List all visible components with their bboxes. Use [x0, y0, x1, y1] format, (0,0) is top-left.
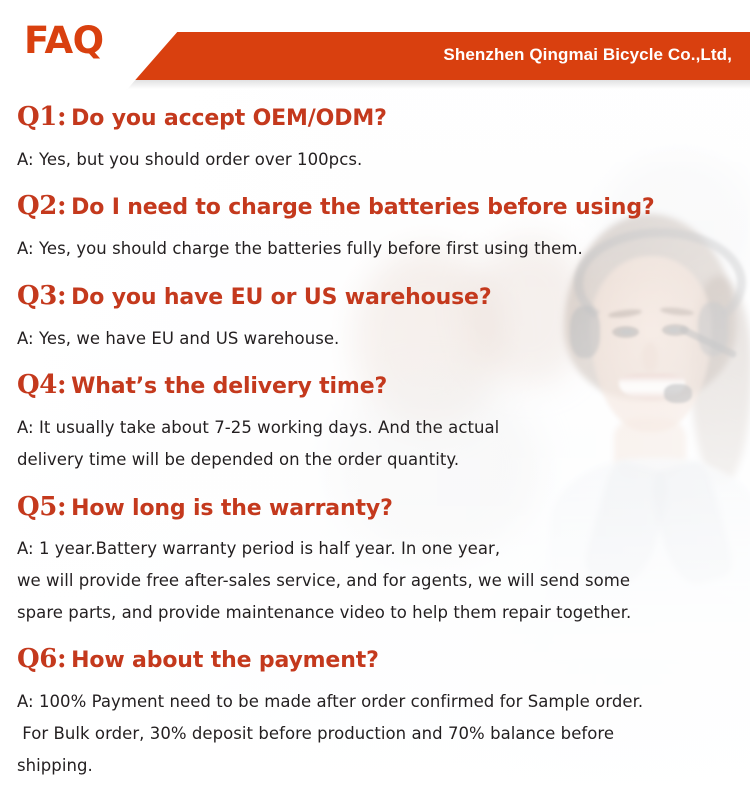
- faq-answer-line: A: Yes, but you should order over 100pcs…: [17, 144, 750, 176]
- faq-question-6: Q6:How about the payment?: [17, 634, 750, 680]
- faq-question-text: Do I need to charge the batteries before…: [71, 195, 654, 220]
- faq-answer-6: A: 100% Payment need to be made after or…: [17, 680, 750, 787]
- faq-question-4: Q4:What’s the delivery time?: [17, 360, 750, 406]
- faq-question-text: What’s the delivery time?: [71, 374, 387, 399]
- faq-question-text: How about the payment?: [71, 648, 379, 673]
- faq-question-1: Q1:Do you accept OEM/ODM?: [17, 92, 750, 138]
- faq-item: Q2:Do I need to charge the batteries bef…: [17, 181, 750, 270]
- faq-answer-5: A: 1 year.Battery warranty period is hal…: [17, 527, 750, 634]
- faq-question-label: Q4:: [17, 370, 66, 400]
- page-header: FAQ Shenzhen Qingmai Bicycle Co.,Ltd,: [0, 0, 750, 92]
- faq-answer-1: A: Yes, but you should order over 100pcs…: [17, 138, 750, 182]
- faq-item: Q4:What’s the delivery time?A: It usuall…: [17, 360, 750, 481]
- faq-question-label: Q1:: [17, 102, 66, 132]
- faq-question-label: Q5:: [17, 492, 66, 522]
- faq-page: FAQ Shenzhen Qingmai Bicycle Co.,Ltd, Q1…: [0, 0, 750, 800]
- faq-answer-line: spare parts, and provide maintenance vid…: [17, 597, 750, 629]
- faq-question-label: Q2:: [17, 191, 66, 221]
- faq-answer-2: A: Yes, you should charge the batteries …: [17, 227, 750, 271]
- faq-question-text: Do you accept OEM/ODM?: [71, 106, 387, 131]
- faq-question-label: Q3:: [17, 281, 66, 311]
- company-name: Shenzhen Qingmai Bicycle Co.,Ltd,: [443, 45, 732, 65]
- faq-answer-line: A: It usually take about 7-25 working da…: [17, 412, 750, 444]
- faq-answer-line: A: Yes, we have EU and US warehouse.: [17, 323, 750, 355]
- faq-answer-line: A: 100% Payment need to be made after or…: [17, 686, 750, 718]
- faq-answer-line: A: 1 year.Battery warranty period is hal…: [17, 533, 750, 565]
- faq-item: Q1:Do you accept OEM/ODM?A: Yes, but you…: [17, 92, 750, 181]
- faq-question-5: Q5:How long is the warranty?: [17, 482, 750, 528]
- faq-answer-3: A: Yes, we have EU and US warehouse.: [17, 317, 750, 361]
- faq-answer-line: delivery time will be depended on the or…: [17, 444, 750, 476]
- page-title: FAQ: [24, 22, 104, 59]
- faq-question-2: Q2:Do I need to charge the batteries bef…: [17, 181, 750, 227]
- faq-item: Q6:How about the payment?A: 100% Payment…: [17, 634, 750, 787]
- faq-question-text: Do you have EU or US warehouse?: [71, 285, 491, 310]
- faq-answer-line: we will provide free after-sales service…: [17, 565, 750, 597]
- faq-list: Q1:Do you accept OEM/ODM?A: Yes, but you…: [0, 92, 750, 787]
- faq-answer-4: A: It usually take about 7-25 working da…: [17, 406, 750, 481]
- faq-answer-line: A: Yes, you should charge the batteries …: [17, 233, 750, 265]
- faq-item: Q5:How long is the warranty?A: 1 year.Ba…: [17, 482, 750, 635]
- faq-question-3: Q3:Do you have EU or US warehouse?: [17, 271, 750, 317]
- faq-answer-line: For Bulk order, 30% deposit before produ…: [17, 718, 750, 750]
- faq-answer-line: shipping.: [17, 750, 750, 782]
- faq-question-label: Q6:: [17, 644, 66, 674]
- faq-question-text: How long is the warranty?: [71, 496, 393, 521]
- faq-item: Q3:Do you have EU or US warehouse?A: Yes…: [17, 271, 750, 360]
